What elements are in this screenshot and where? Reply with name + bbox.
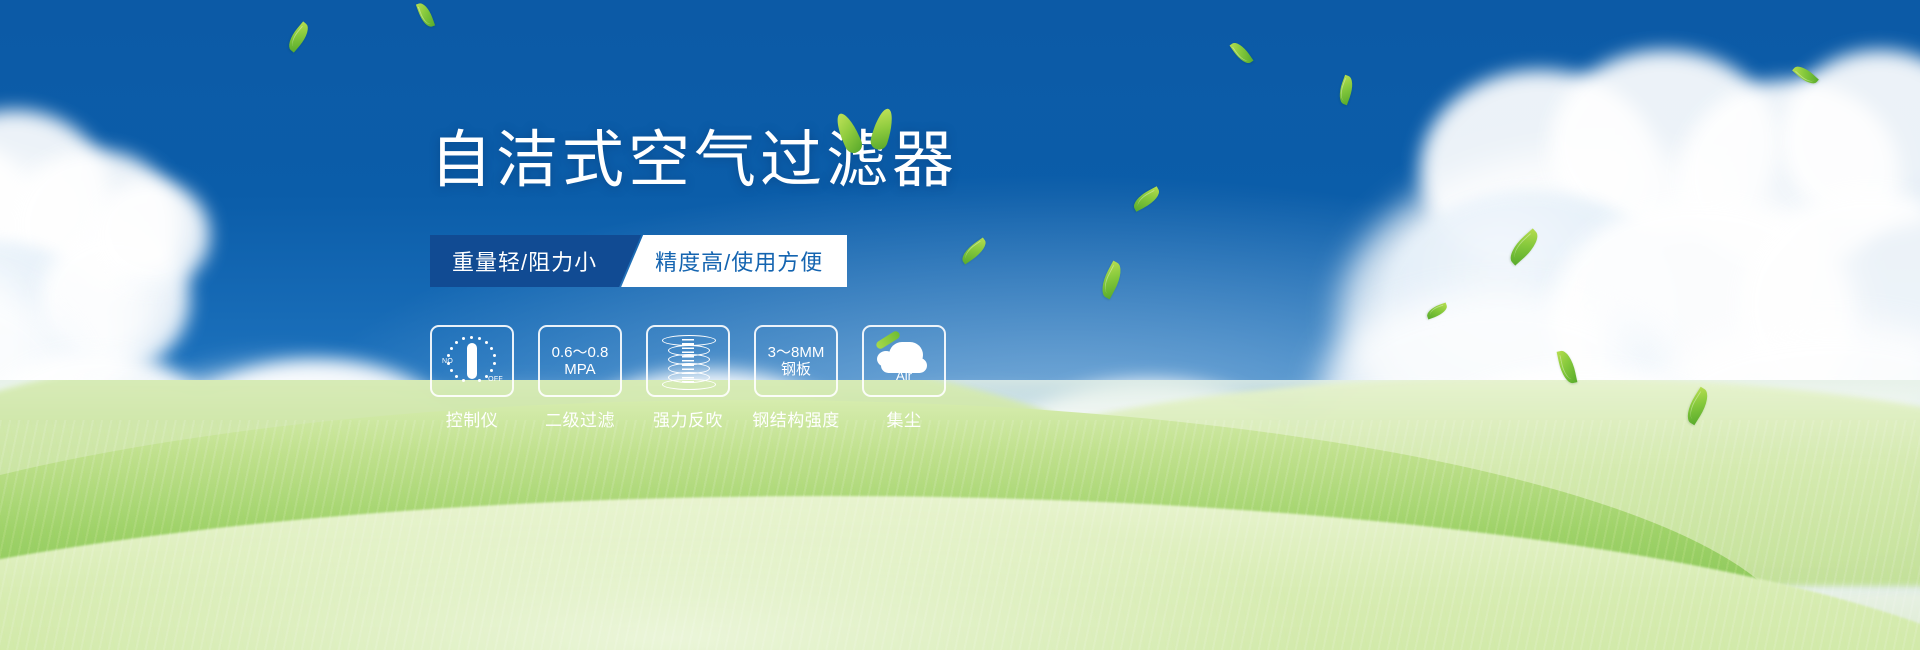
feature-box: Air: [862, 325, 946, 397]
feature-label: 二级过滤: [545, 406, 615, 431]
tag-lightweight-low-resistance: 重量轻/阻力小: [430, 235, 641, 287]
air-cloud-icon: Air: [873, 338, 935, 384]
pressure-unit: MPA: [564, 361, 595, 378]
tag-group: 重量轻/阻力小 精度高/使用方便: [430, 235, 847, 287]
feature-box: 3～8MM 钢板: [754, 325, 838, 397]
feature-item-two-stage-filter: 0.6～0.8 MPA 二级过滤: [538, 325, 622, 431]
feature-list: NO OFF: [430, 325, 946, 431]
title-leaf-icon: [838, 108, 902, 154]
pressure-value: 0.6～0.8: [552, 344, 609, 361]
feature-label: 控制仪: [446, 406, 499, 431]
feature-label: 强力反吹: [653, 406, 723, 431]
banner-content: 自洁式空气过滤器 重量轻/阻力小 精度高/使用方便 NO OFF: [0, 0, 1920, 650]
feature-box: 0.6～0.8 MPA: [538, 325, 622, 397]
filter-element-icon: [660, 333, 716, 389]
feature-label: 集尘: [887, 406, 922, 431]
steel-thickness: 3～8MM: [768, 344, 825, 361]
banner-stage: 自洁式空气过滤器 重量轻/阻力小 精度高/使用方便 NO OFF: [0, 0, 1920, 650]
steel-material: 钢板: [781, 361, 811, 378]
gauge-off-label: OFF: [488, 376, 503, 383]
tag-high-precision-easy-use: 精度高/使用方便: [621, 235, 847, 287]
feature-box: [646, 325, 730, 397]
feature-item-dust-collection: Air 集尘: [862, 325, 946, 431]
air-label: Air: [873, 368, 935, 383]
feature-item-controller: NO OFF: [430, 325, 514, 431]
gauge-icon: NO OFF: [443, 334, 501, 388]
feature-item-steel-strength: 3～8MM 钢板 钢结构强度: [754, 325, 838, 431]
feature-label: 钢结构强度: [752, 406, 840, 431]
feature-box: NO OFF: [430, 325, 514, 397]
feature-item-back-blow: 强力反吹: [646, 325, 730, 431]
